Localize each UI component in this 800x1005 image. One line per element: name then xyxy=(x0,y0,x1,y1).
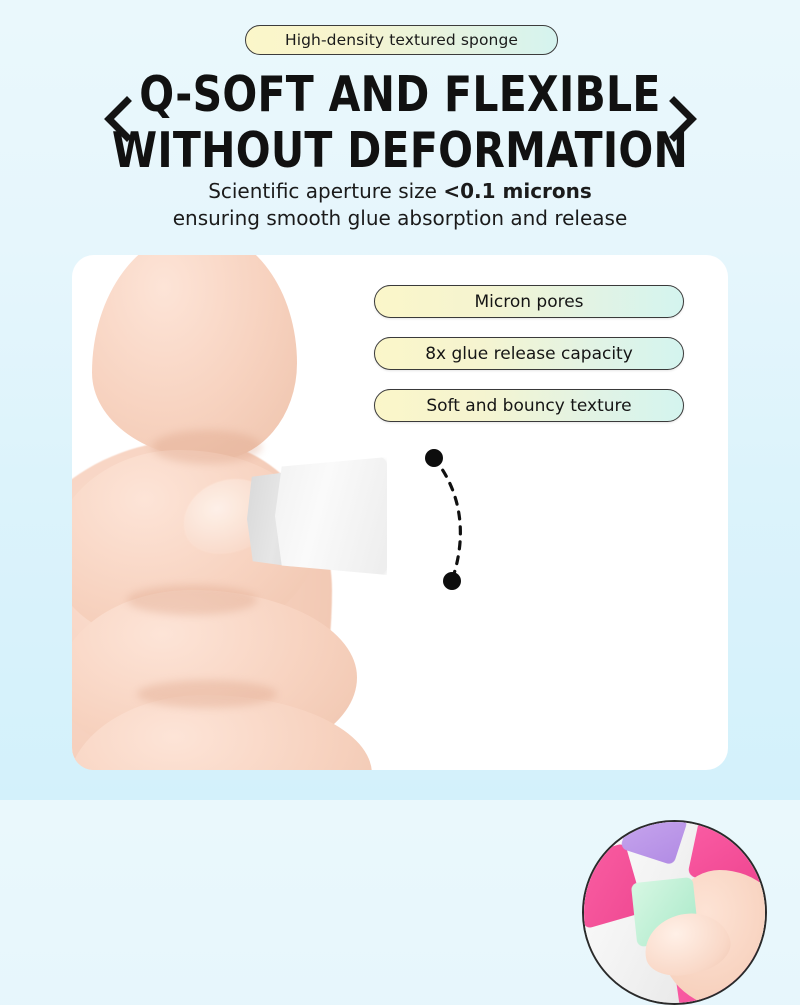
white-sponge xyxy=(247,457,387,577)
headline-line-1: Q-SOFT AND FLEXIBLE xyxy=(28,70,772,119)
main-product-photo xyxy=(72,255,728,770)
subtitle-line-2: ensuring smooth glue absorption and rele… xyxy=(0,205,800,232)
subtitle-prefix: Scientific aperture size xyxy=(208,179,443,203)
feature-pill-label: Micron pores xyxy=(474,292,583,312)
inset-photo-circle xyxy=(582,820,767,1005)
feature-pill-label: 8x glue release capacity xyxy=(425,344,633,364)
top-badge: High-density textured sponge xyxy=(245,25,558,55)
flex-arc-annotation xyxy=(412,440,532,600)
subtitle: Scientific aperture size <0.1 microns en… xyxy=(0,178,800,232)
headline-line-2: WITHOUT DEFORMATION xyxy=(28,126,772,175)
knuckle-crease xyxy=(152,430,262,464)
sponge-front-face xyxy=(275,457,387,575)
product-photo-card xyxy=(72,255,728,770)
arc-endpoint-bottom xyxy=(443,572,461,590)
subtitle-highlight: <0.1 microns xyxy=(443,179,591,203)
index-finger xyxy=(92,255,297,460)
subtitle-line-1: Scientific aperture size <0.1 microns xyxy=(0,178,800,205)
knuckle-crease xyxy=(127,585,257,615)
feature-pill-glue-release: 8x glue release capacity xyxy=(374,337,684,370)
feature-pill-bouncy-texture: Soft and bouncy texture xyxy=(374,389,684,422)
feature-pill-micron-pores: Micron pores xyxy=(374,285,684,318)
top-badge-label: High-density textured sponge xyxy=(285,31,518,49)
feature-pill-label: Soft and bouncy texture xyxy=(426,396,631,416)
knuckle-crease xyxy=(137,680,277,708)
arc-endpoint-top xyxy=(425,449,443,467)
headline: Q-SOFT AND FLEXIBLE WITHOUT DEFORMATION xyxy=(0,70,800,175)
